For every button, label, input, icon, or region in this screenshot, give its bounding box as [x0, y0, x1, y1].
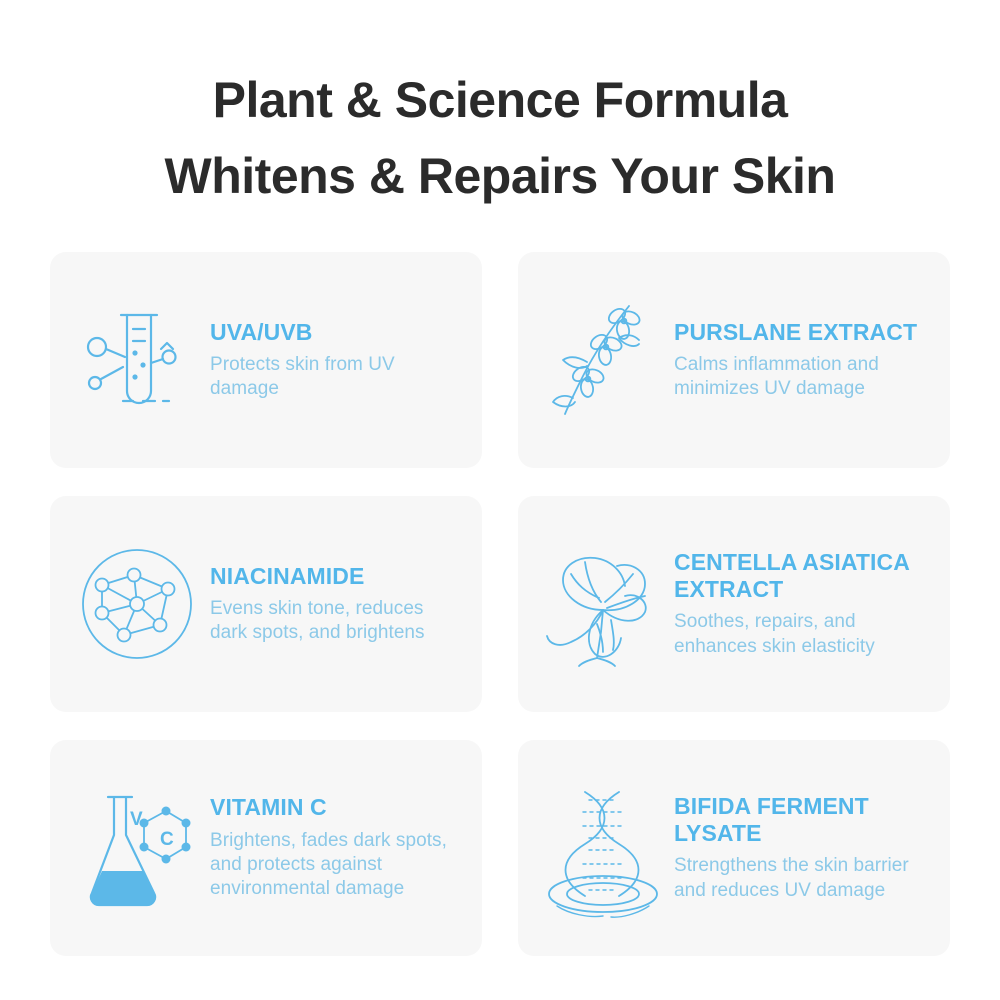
test-tube-molecule-icon [70, 285, 204, 435]
ingredient-card-centella-asiatica-extract: CENTELLA ASIATICA EXTRACT Soothes, repai… [518, 496, 950, 712]
vitamin-c-flask-icon: V C [70, 773, 204, 923]
svg-text:V: V [130, 809, 143, 830]
dna-helix-icon [538, 773, 668, 923]
ingredient-description: Soothes, repairs, and enhances skin elas… [674, 610, 930, 659]
ingredient-card-vitamin-c: V C VITAMIN C Brightens, fades dark spot… [50, 740, 482, 956]
ingredient-description: Brightens, fades dark spots, and protect… [210, 829, 462, 902]
ingredient-title: BIFIDA FERMENT LYSATE [674, 793, 930, 847]
ingredient-title: VITAMIN C [210, 794, 462, 821]
ingredient-title: PURSLANE EXTRACT [674, 319, 930, 346]
ingredient-title: CENTELLA ASIATICA EXTRACT [674, 549, 930, 603]
ingredient-card-uva-uvb: UVA/UVB Protects skin from UV damage [50, 252, 482, 468]
ingredient-card-text: UVA/UVB Protects skin from UV damage [204, 319, 466, 402]
ingredient-title: UVA/UVB [210, 319, 462, 346]
ingredient-card-text: BIFIDA FERMENT LYSATE Strengthens the sk… [668, 793, 934, 903]
centella-leaf-icon [538, 529, 668, 679]
ingredient-card-text: PURSLANE EXTRACT Calms inflammation and … [668, 319, 934, 402]
ingredient-card-purslane-extract: PURSLANE EXTRACT Calms inflammation and … [518, 252, 950, 468]
page-title-line-1: Plant & Science Formula [0, 62, 1000, 138]
ingredient-title: NIACINAMIDE [210, 563, 462, 590]
ingredient-description: Strengthens the skin barrier and reduces… [674, 854, 930, 903]
page-title-line-2: Whitens & Repairs Your Skin [0, 138, 1000, 214]
infographic-page: Plant & Science Formula Whitens & Repair… [0, 0, 1000, 1000]
svg-text:C: C [160, 829, 174, 850]
ingredient-card-grid: UVA/UVB Protects skin from UV damage [50, 252, 950, 956]
ingredient-card-text: NIACINAMIDE Evens skin tone, reduces dar… [204, 563, 466, 646]
ingredient-description: Evens skin tone, reduces dark spots, and… [210, 597, 462, 646]
ingredient-card-text: VITAMIN C Brightens, fades dark spots, a… [204, 794, 466, 901]
ingredient-description: Protects skin from UV damage [210, 353, 462, 402]
ingredient-card-niacinamide: NIACINAMIDE Evens skin tone, reduces dar… [50, 496, 482, 712]
page-title: Plant & Science Formula Whitens & Repair… [0, 0, 1000, 214]
molecule-network-circle-icon [70, 529, 204, 679]
purslane-flower-icon [538, 285, 668, 435]
ingredient-description: Calms inflammation and minimizes UV dama… [674, 353, 930, 402]
ingredient-card-text: CENTELLA ASIATICA EXTRACT Soothes, repai… [668, 549, 934, 659]
ingredient-card-bifida-ferment-lysate: BIFIDA FERMENT LYSATE Strengthens the sk… [518, 740, 950, 956]
